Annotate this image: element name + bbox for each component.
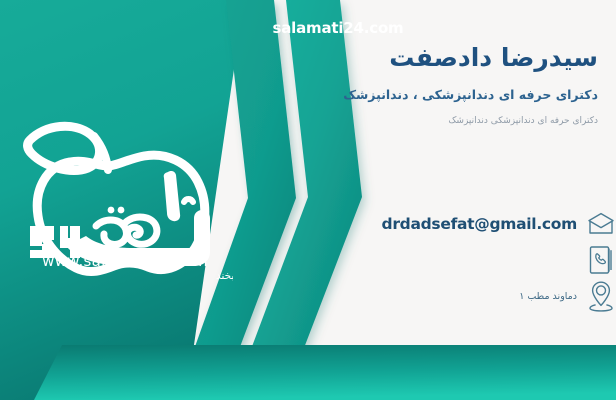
card-content: سیدرضا دادصفت دکترای حرفه ای دندانپزشکی … <box>268 0 598 400</box>
business-card: به راحتی یک لبخند سلامتی 24 به راحتی یک … <box>0 0 616 400</box>
footer-website: salamati24.com <box>0 0 616 55</box>
brand-tagline-text: به راحتی یک لبخند <box>216 270 233 282</box>
person-job-subtitle: دکترای حرفه ای دندانپزشکی دندانپزشک <box>268 115 598 128</box>
person-job-title: دکترای حرفه ای دندانپزشکی ، دندانپزشک <box>268 86 598 104</box>
brand-website: www.salamati24.com <box>20 252 230 270</box>
